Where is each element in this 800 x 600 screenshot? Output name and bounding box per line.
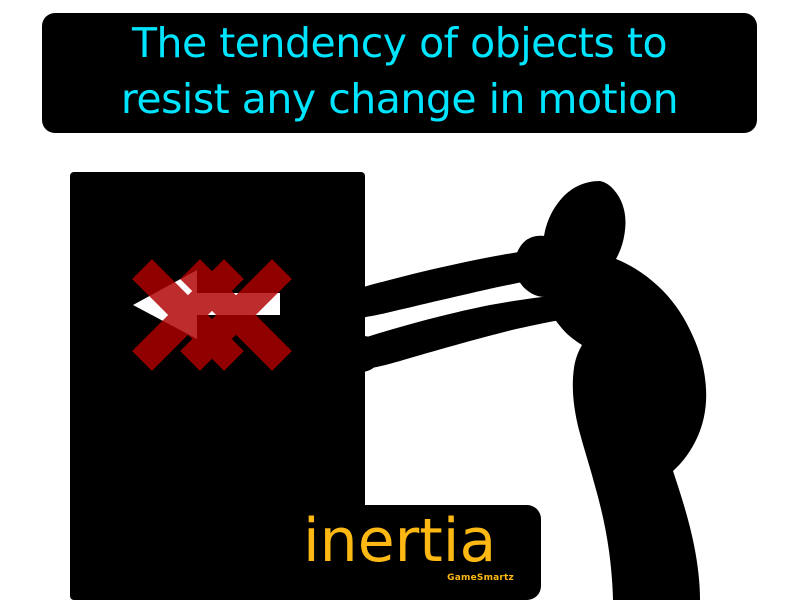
watermark-text: GameSmartz — [447, 573, 514, 583]
definition-banner: The tendency of objects to resist any ch… — [42, 13, 757, 133]
term-label-box: inertia GameSmartz — [285, 505, 541, 600]
definition-line-1: The tendency of objects to — [132, 15, 667, 71]
term-text: inertia — [303, 507, 496, 575]
definition-line-2: resist any change in motion — [121, 71, 678, 127]
flashcard-canvas: The tendency of objects to resist any ch… — [0, 0, 800, 600]
